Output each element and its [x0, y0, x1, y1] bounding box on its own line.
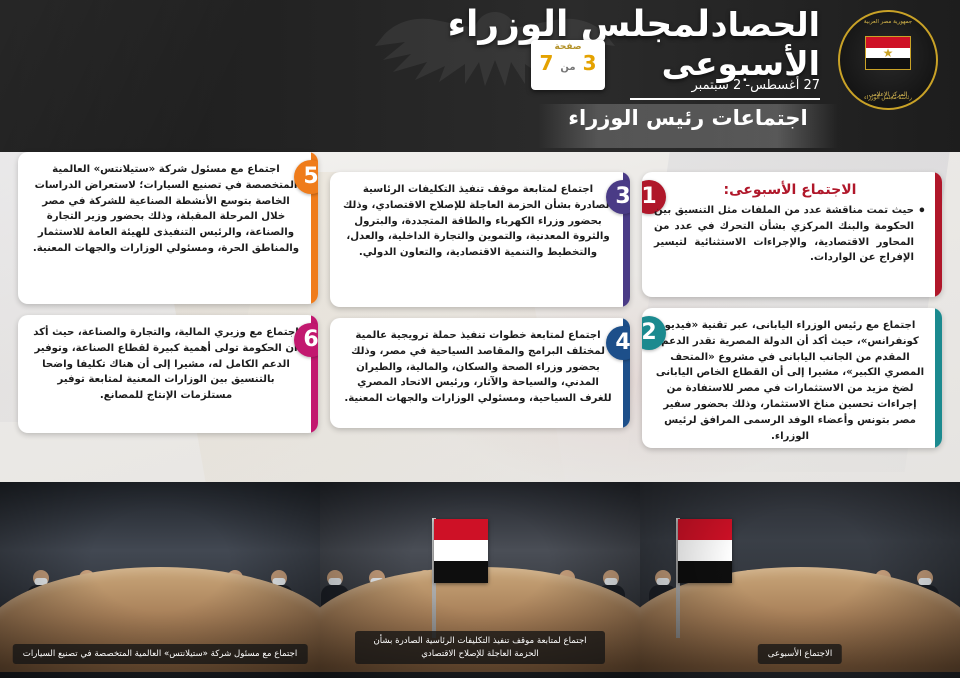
photo-caption-mid: اجتماع لمتابعة موقف تنفيذ التكليفات الرئ… [355, 631, 605, 664]
date-range: 27 أغسطس- 2 سبتمبر [691, 78, 820, 93]
page-number-badge: صفحة 3 من 7 [531, 40, 605, 90]
egypt-flag-icon [678, 519, 732, 583]
date-underline [630, 98, 820, 100]
meeting-card-1: 1 الاجتماع الأسبوعى: حيث تمت مناقشة عدد … [642, 172, 942, 297]
meeting-card-4: 4 اجتماع لمتابعة خطوات تنفيذ حملة ترويجي… [330, 318, 630, 428]
header-banner: الحصاد الأسبوعى لمجلس الوزراء 27 أغسطس- … [0, 0, 960, 152]
emblem-badge-text: المركز الإعلامي [852, 91, 924, 98]
infographic-page: الحصاد الأسبوعى لمجلس الوزراء 27 أغسطس- … [0, 0, 960, 678]
photo-caption-left: اجتماع مع مسئول شركة «ستيلانتس» العالمية… [13, 644, 308, 664]
emblem-flag: ★ [865, 36, 911, 70]
card-6-text: اجتماع مع وزيري المالية، والتجارة والصنا… [30, 325, 302, 404]
page-badge-total: 7 [540, 51, 554, 75]
photo-weekly-meeting: الاجتماع الأسبوعى [640, 482, 960, 678]
card-3-text: اجتماع لمتابعة موقف تنفيذ التكليفات الرئ… [342, 182, 614, 261]
card-1-list: حيث تمت مناقشة عدد من الملفات مثل التنسي… [654, 203, 926, 266]
meeting-card-5: 5 اجتماع مع مسئول شركة «ستيلانتس» العالم… [18, 152, 318, 304]
section-title: اجتماعات رئيس الوزراء [538, 104, 838, 152]
photo-strip: الاجتماع الأسبوعى اجتماع لمتابعة موقف تن… [0, 482, 960, 678]
page-badge-current: 3 [583, 51, 597, 75]
government-emblem: جمهورية مصر العربية ★ رئاسة مجلس الوزراء… [838, 10, 938, 110]
meeting-card-3: 3 اجتماع لمتابعة موقف تنفيذ التكليفات ال… [330, 172, 630, 307]
card-2-accent-bar [935, 308, 942, 448]
flag-eagle-icon: ★ [883, 46, 894, 60]
meeting-card-2: 2 اجتماع مع رئيس الوزراء اليابانى، عبر ت… [642, 308, 942, 448]
meeting-card-6: 6 اجتماع مع وزيري المالية، والتجارة والص… [18, 315, 318, 433]
card-2-text: اجتماع مع رئيس الوزراء اليابانى، عبر تقن… [654, 318, 926, 445]
page-badge-of: من [560, 62, 575, 73]
title-main-subject: لمجلس الوزراء [448, 4, 710, 45]
card-5-text: اجتماع مع مسئول شركة «ستيلانتس» العالمية… [30, 162, 302, 257]
photo-stellantis-meeting: اجتماع مع مسئول شركة «ستيلانتس» العالمية… [0, 482, 320, 678]
egypt-flag-icon [434, 519, 488, 583]
photo-presidential-directives-meeting: اجتماع لمتابعة موقف تنفيذ التكليفات الرئ… [320, 482, 640, 678]
photo-caption-right: الاجتماع الأسبوعى [758, 644, 842, 664]
card-4-text: اجتماع لمتابعة خطوات تنفيذ حملة ترويجية … [342, 328, 614, 407]
card-1-title: الاجتماع الأسبوعى: [654, 182, 926, 198]
card-1-accent-bar [935, 172, 942, 297]
card-1-text: حيث تمت مناقشة عدد من الملفات مثل التنسي… [654, 203, 926, 266]
page-badge-numbers: 3 من 7 [531, 52, 605, 74]
emblem-top-text: جمهورية مصر العربية [838, 19, 938, 25]
